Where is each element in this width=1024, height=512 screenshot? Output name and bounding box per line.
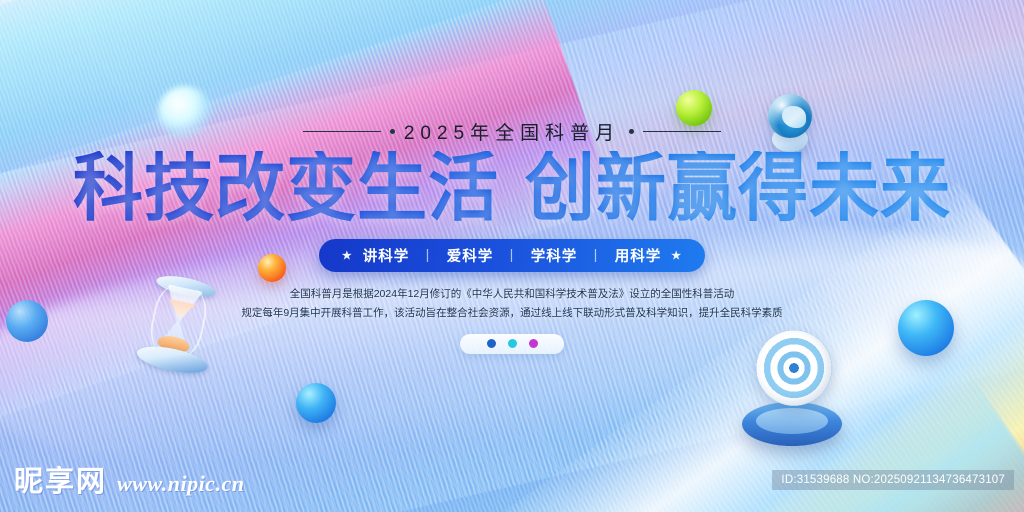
eyebrow-rule-right xyxy=(643,131,721,132)
dot-blue-icon xyxy=(487,339,496,348)
watermark-url: www.nipic.cn xyxy=(117,471,244,497)
slogan-pill[interactable]: ★ 讲科学 丨 爱科学 丨 学科学 丨 用科学 ★ xyxy=(319,239,705,272)
body-line-2: 规定每年9月集中开展科普工作，该活动旨在整合社会资源，通过线上线下联动形式普及科… xyxy=(241,304,782,323)
dot-magenta-icon xyxy=(529,339,538,348)
watermark-id-badge: ID:31539688 NO:20250921134736473107 xyxy=(772,470,1014,490)
slogan-item-1: 爱科学 xyxy=(447,245,494,266)
eyebrow-banner: 2025年全国科普月 xyxy=(303,118,721,145)
main-title-right: 创新赢得未来 xyxy=(525,145,951,232)
slogan-separator-1: 丨 xyxy=(504,245,520,266)
main-title-left: 科技改变生活 xyxy=(73,145,499,232)
watermark-brand: 昵享网 www.nipic.cn xyxy=(14,458,244,500)
eyebrow-rule-left xyxy=(303,131,381,132)
slogan-item-3: 用科学 xyxy=(615,245,662,266)
slogan-item-0: 讲科学 xyxy=(363,245,410,266)
poster-content: 2025年全国科普月 科技改变生活创新赢得未来 ★ 讲科学 丨 爱科学 丨 学科… xyxy=(0,0,1024,512)
eyebrow-dot-left xyxy=(390,129,395,134)
star-left-icon: ★ xyxy=(342,249,353,262)
decorative-dots-pill xyxy=(460,334,564,354)
body-line-1: 全国科普月是根据2024年12月修订的《中华人民共和国科学技术普及法》设立的全国… xyxy=(241,285,782,304)
body-paragraph: 全国科普月是根据2024年12月修订的《中华人民共和国科学技术普及法》设立的全国… xyxy=(241,285,782,324)
star-right-icon: ★ xyxy=(671,249,682,262)
poster-canvas: 2025年全国科普月 科技改变生活创新赢得未来 ★ 讲科学 丨 爱科学 丨 学科… xyxy=(0,0,1024,512)
slogan-item-2: 学科学 xyxy=(531,245,578,266)
eyebrow-dot-right xyxy=(629,129,634,134)
eyebrow-text: 2025年全国科普月 xyxy=(404,118,620,145)
slogan-separator-2: 丨 xyxy=(588,245,604,266)
main-title: 科技改变生活创新赢得未来 xyxy=(73,151,951,225)
slogan-separator-0: 丨 xyxy=(420,245,436,266)
dot-cyan-icon xyxy=(508,339,517,348)
watermark-logo-text: 昵享网 xyxy=(14,458,107,500)
